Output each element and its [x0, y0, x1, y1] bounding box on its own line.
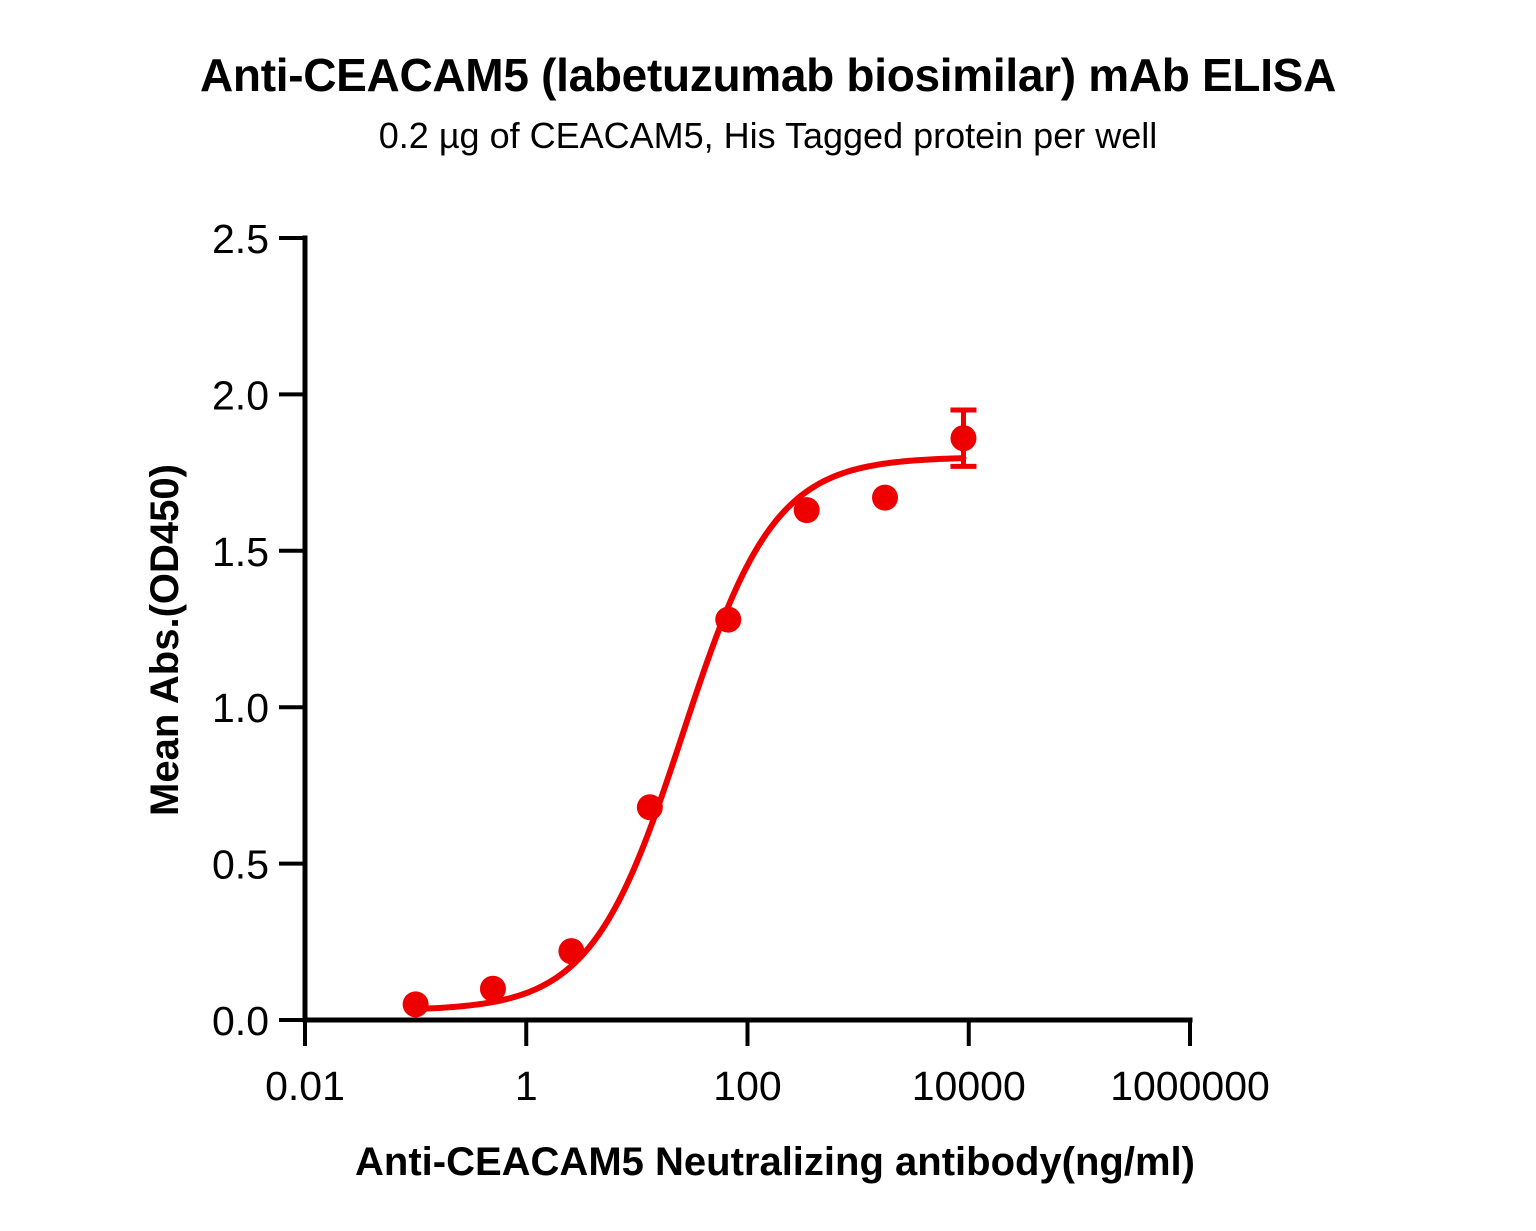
data-point — [637, 794, 663, 820]
data-point — [480, 976, 506, 1002]
data-point — [872, 485, 898, 511]
data-point — [794, 497, 820, 523]
axis-lines — [305, 238, 1190, 1020]
x-tick-label: 100 — [713, 1063, 781, 1109]
x-tick-label: 10000 — [912, 1063, 1026, 1109]
y-tick-label: 0.5 — [212, 842, 269, 888]
fit-curve — [416, 458, 964, 1009]
x-tick-label: 1000000 — [1110, 1063, 1270, 1109]
data-point — [558, 938, 584, 964]
y-tick-label: 1.0 — [212, 685, 269, 731]
elisa-figure: Anti-CEACAM5 (labetuzumab biosimilar) mA… — [0, 0, 1536, 1231]
data-point — [950, 425, 976, 451]
fit-curve-group — [416, 458, 964, 1009]
y-tick-label: 1.5 — [212, 529, 269, 575]
y-axis-title: Mean Abs.(OD450) — [143, 464, 187, 816]
y-axis-ticks: 0.00.51.01.52.02.5 — [212, 216, 305, 1044]
x-tick-label: 1 — [515, 1063, 538, 1109]
chart-plot-area: 0.00.51.01.52.02.5 0.011100100001000000 … — [0, 0, 1536, 1231]
data-point — [403, 991, 429, 1017]
data-point — [715, 607, 741, 633]
y-tick-label: 0.0 — [212, 998, 269, 1044]
x-tick-label: 0.01 — [265, 1063, 345, 1109]
axes-group — [305, 238, 1190, 1020]
x-axis-title: Anti-CEACAM5 Neutralizing antibody(ng/ml… — [355, 1140, 1195, 1184]
y-tick-label: 2.5 — [212, 216, 269, 262]
x-axis-ticks: 0.011100100001000000 — [265, 1020, 1270, 1109]
y-tick-label: 2.0 — [212, 372, 269, 418]
